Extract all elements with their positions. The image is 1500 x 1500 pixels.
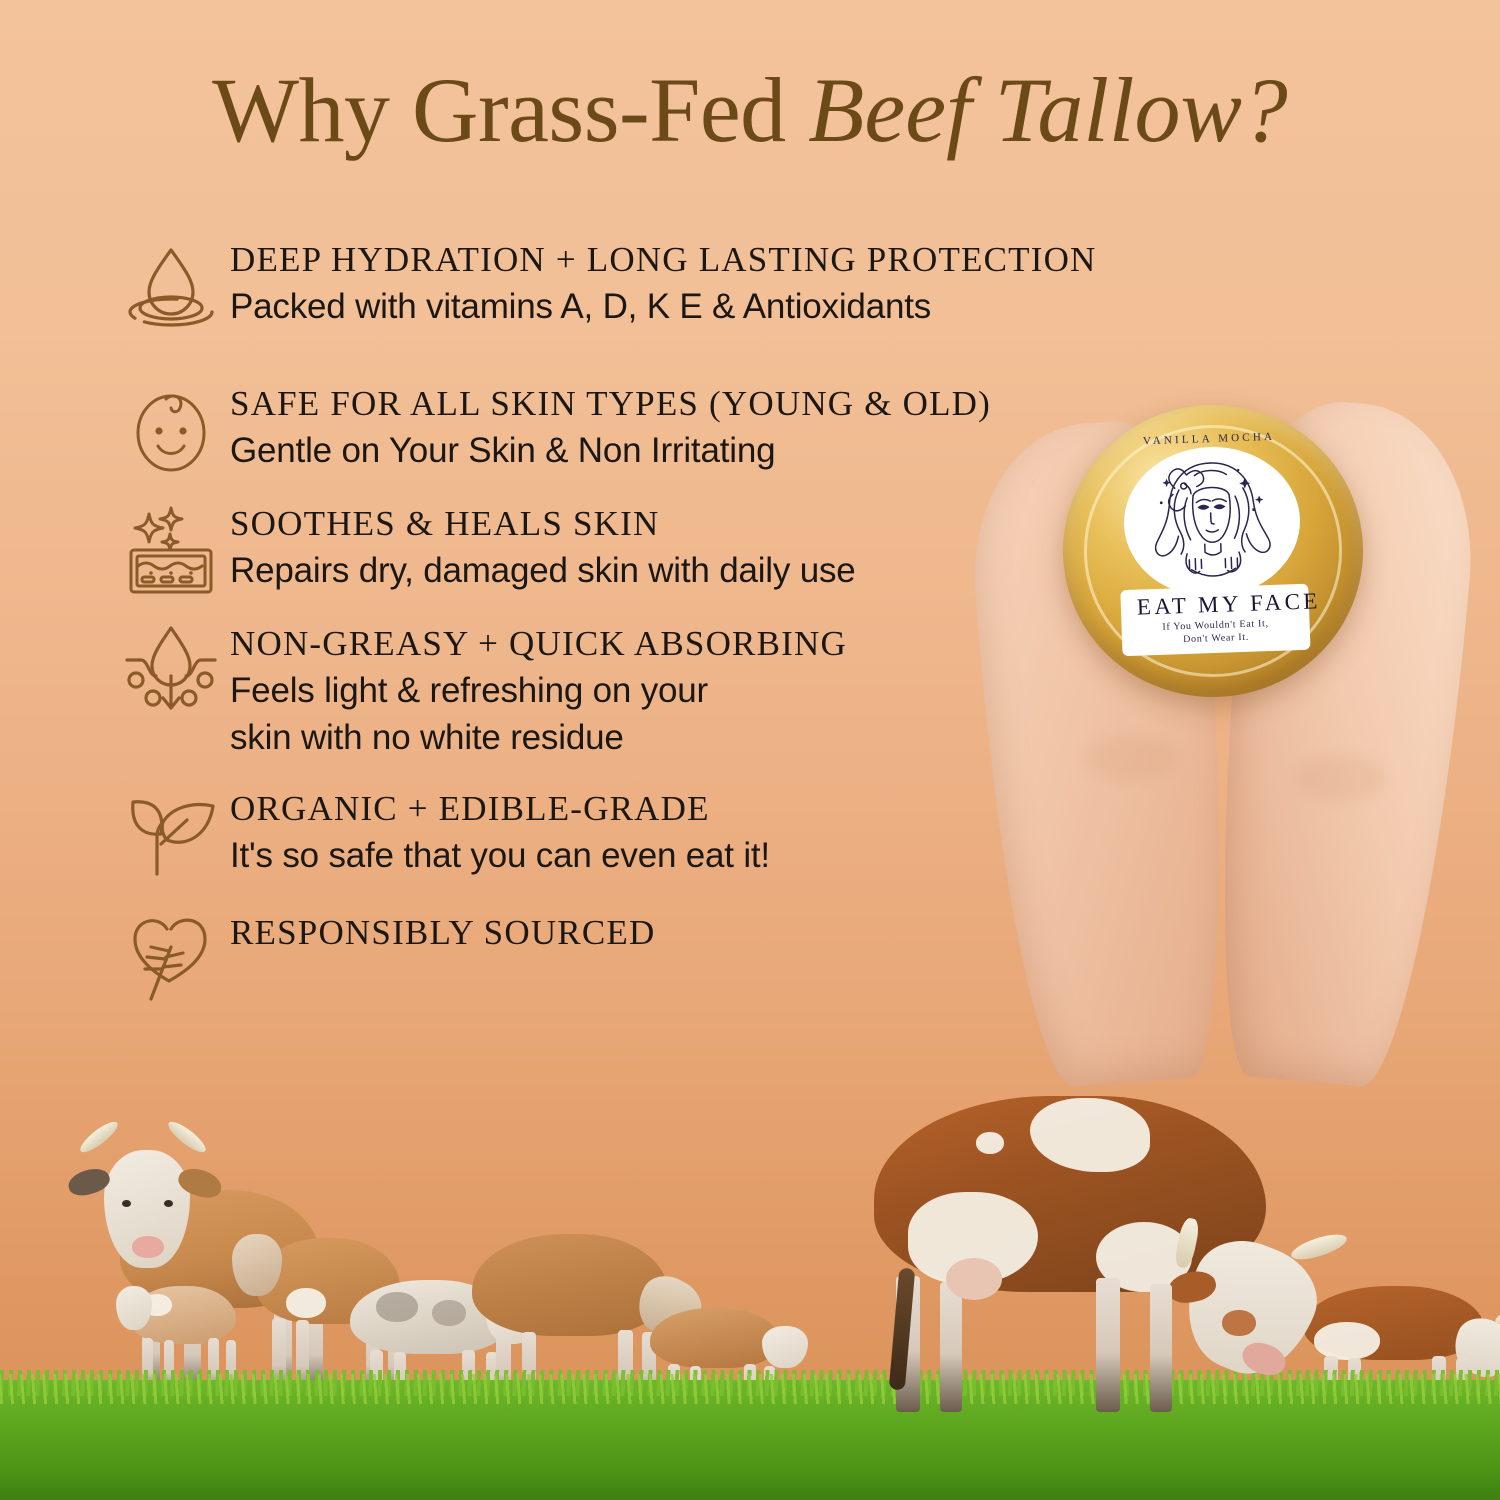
feature-heading: DEEP HYDRATION + LONG LASTING PROTECTION bbox=[230, 240, 1132, 279]
cow-horn-left bbox=[77, 1117, 122, 1156]
product-photo: VANILLA MOCHA bbox=[965, 375, 1500, 1105]
calf-patch bbox=[286, 1288, 326, 1318]
knuckle-shading bbox=[1295, 755, 1385, 801]
cow-udder bbox=[946, 1258, 1002, 1300]
skin-layers-sparkle-icon bbox=[112, 502, 230, 598]
title-part-italic: Beef Tallow? bbox=[808, 59, 1288, 161]
cow-patch-small bbox=[976, 1132, 1004, 1154]
knuckle-shading bbox=[1085, 735, 1175, 781]
cow-eye-right bbox=[164, 1200, 173, 1207]
calf-head bbox=[116, 1286, 152, 1330]
cow-eye-left bbox=[122, 1200, 131, 1207]
brand-block: EAT MY FACE If You Wouldn't Eat It, Don'… bbox=[1120, 584, 1310, 657]
cow-horn-right bbox=[165, 1117, 210, 1156]
cow-foreground-grazing bbox=[850, 1072, 1370, 1412]
calf-head bbox=[232, 1234, 282, 1296]
water-droplet-icon bbox=[112, 238, 230, 334]
cow-horn-right bbox=[1289, 1229, 1350, 1264]
page-title: Why Grass-Fed Beef Tallow? bbox=[0, 62, 1500, 159]
cow-leg bbox=[1150, 1284, 1172, 1412]
cattle-herd bbox=[0, 1072, 1500, 1412]
cow-face-patch bbox=[1222, 1310, 1256, 1336]
flavor-name: VANILLA MOCHA bbox=[1143, 431, 1275, 448]
title-part-regular: Why Grass-Fed bbox=[212, 59, 808, 161]
calf-head bbox=[762, 1326, 808, 1368]
calf-body bbox=[650, 1308, 780, 1368]
cow-leg bbox=[940, 1282, 962, 1412]
absorbing-droplet-icon bbox=[112, 622, 230, 718]
calf-spot bbox=[376, 1292, 418, 1322]
heart-leaf-icon bbox=[112, 911, 230, 1007]
two-leaves-icon bbox=[112, 787, 230, 883]
product-label: VANILLA MOCHA bbox=[1103, 429, 1323, 672]
cow-muzzle bbox=[132, 1236, 164, 1258]
feature-subtitle: Packed with vitamins A, D, K E & Antioxi… bbox=[230, 285, 1132, 330]
cow-body bbox=[472, 1234, 668, 1336]
goddess-illustration-icon bbox=[1121, 444, 1302, 600]
feature-item-deep-hydration: DEEP HYDRATION + LONG LASTING PROTECTION… bbox=[112, 236, 1132, 334]
brand-name: EAT MY FACE bbox=[1137, 590, 1294, 618]
product-infographic: Why Grass-Fed Beef Tallow? DEEP HYDRATIO… bbox=[0, 0, 1500, 1500]
cow-leg bbox=[1096, 1278, 1120, 1412]
baby-face-icon bbox=[112, 382, 230, 478]
